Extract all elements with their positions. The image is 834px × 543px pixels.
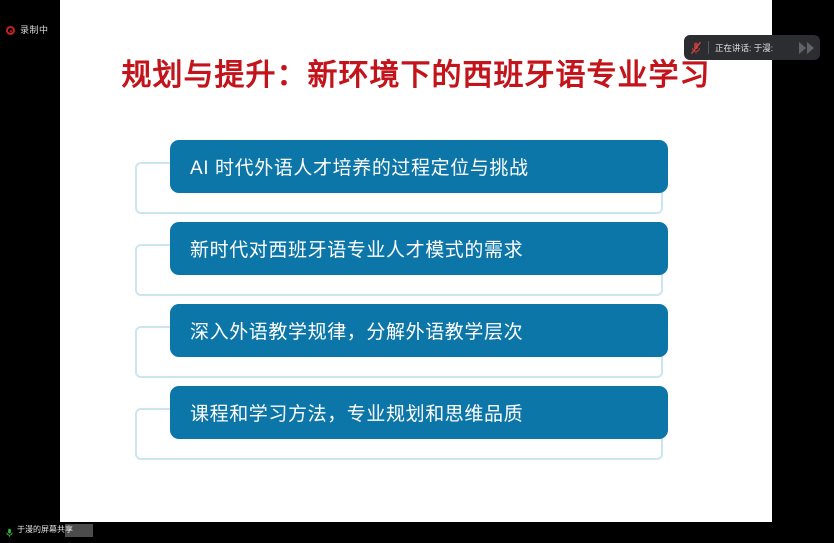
zoom-meeting-window: 录制中 规划与提升：新环境下的西班牙语专业学习 AI 时代外语人才培养的过程定位… bbox=[0, 0, 834, 537]
list-item: 深入外语教学规律，分解外语教学层次 bbox=[130, 304, 735, 386]
agenda-bar: AI 时代外语人才培养的过程定位与挑战 bbox=[170, 140, 668, 193]
active-speaker-pill[interactable]: 正在讲话: 于漫: bbox=[684, 35, 820, 60]
agenda-bar: 课程和学习方法，专业规划和思维品质 bbox=[170, 386, 668, 439]
shared-screen-slide: 规划与提升：新环境下的西班牙语专业学习 AI 时代外语人才培养的过程定位与挑战 … bbox=[60, 0, 772, 522]
agenda-bar-label: AI 时代外语人才培养的过程定位与挑战 bbox=[170, 153, 529, 180]
list-item: 新时代对西班牙语专业人才模式的需求 bbox=[130, 222, 735, 304]
list-item: AI 时代外语人才培养的过程定位与挑战 bbox=[130, 140, 735, 222]
page-title: 规划与提升：新环境下的西班牙语专业学习 bbox=[60, 50, 772, 94]
pill-divider bbox=[708, 41, 709, 54]
agenda-bar-label: 课程和学习方法，专业规划和思维品质 bbox=[170, 399, 523, 426]
agenda-bar-label: 深入外语教学规律，分解外语教学层次 bbox=[170, 317, 523, 344]
agenda-bar: 新时代对西班牙语专业人才模式的需求 bbox=[170, 222, 668, 275]
list-item: 课程和学习方法，专业规划和思维品质 bbox=[130, 386, 735, 468]
mic-on-icon bbox=[6, 525, 13, 535]
screenshare-label: 于漫的屏幕共享 bbox=[17, 526, 73, 534]
agenda-bar-label: 新时代对西班牙语专业人才模式的需求 bbox=[170, 235, 523, 262]
recording-label: 录制中 bbox=[20, 26, 49, 35]
active-speaker-label: 正在讲话: 于漫: bbox=[715, 42, 793, 54]
double-chevron-right-icon[interactable] bbox=[799, 42, 814, 54]
screenshare-status[interactable]: 于漫的屏幕共享 bbox=[6, 523, 73, 536]
agenda-bar: 深入外语教学规律，分解外语教学层次 bbox=[170, 304, 668, 357]
record-dot-icon bbox=[6, 26, 15, 35]
bottom-status-strip: 于漫的屏幕共享 bbox=[0, 522, 834, 537]
agenda-list: AI 时代外语人才培养的过程定位与挑战 新时代对西班牙语专业人才模式的需求 深入… bbox=[130, 140, 735, 468]
recording-indicator[interactable]: 录制中 bbox=[6, 26, 49, 35]
mic-muted-icon[interactable] bbox=[690, 41, 702, 55]
